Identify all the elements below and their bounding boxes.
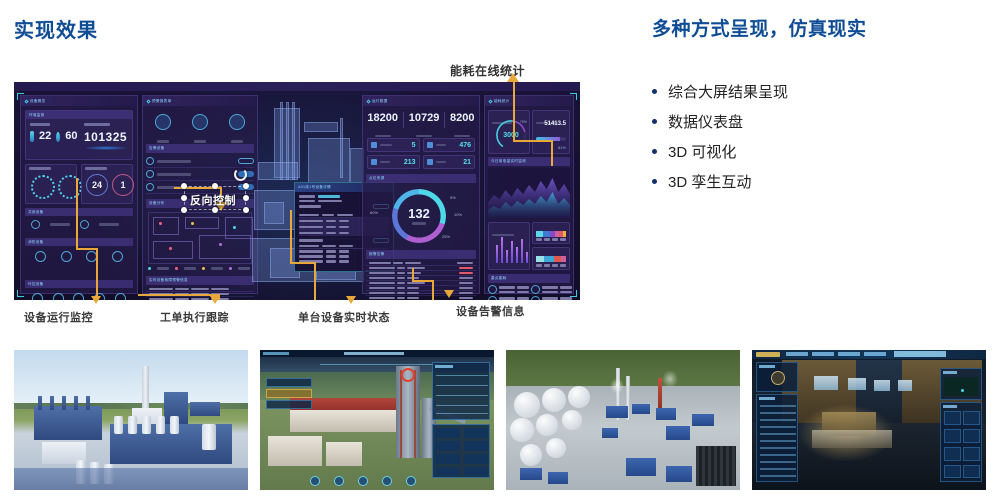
total-percent: 81% bbox=[558, 145, 566, 150]
list-item: 数据仪表盘 bbox=[652, 106, 972, 136]
menu-button[interactable] bbox=[266, 400, 312, 409]
panel-energy-statistics[interactable]: 能耗统计 3000 75% 51413.5 bbox=[484, 95, 574, 294]
card-title bbox=[29, 167, 51, 170]
count-value: 1 bbox=[120, 180, 125, 190]
kpi-label bbox=[454, 135, 470, 138]
list-item: 3D 孪生互动 bbox=[652, 166, 972, 196]
bullet-dot-icon bbox=[652, 89, 657, 94]
donut-center: 132 bbox=[392, 189, 446, 243]
section-header-fault: 实时设备故障预警信息 bbox=[146, 276, 254, 285]
meter-icon bbox=[488, 285, 497, 294]
device-icon[interactable] bbox=[35, 251, 46, 262]
section-title: 今日用电量实时监测 bbox=[491, 159, 526, 164]
alert-marker-icon[interactable] bbox=[401, 368, 415, 382]
tile-report[interactable] bbox=[192, 114, 208, 148]
records-panel[interactable] bbox=[756, 394, 798, 482]
thumbnail-interior-walkthrough[interactable] bbox=[752, 350, 986, 490]
office-building bbox=[268, 436, 322, 466]
meter-icon bbox=[531, 285, 540, 294]
overview-panel[interactable] bbox=[756, 362, 798, 392]
minimap[interactable] bbox=[944, 377, 978, 396]
building bbox=[190, 402, 220, 416]
resize-handle[interactable] bbox=[243, 195, 249, 201]
card-zone-energy-bars[interactable] bbox=[488, 222, 530, 270]
key-energy-grid[interactable] bbox=[488, 285, 570, 290]
callout-label-device-monitor: 设备运行监控 bbox=[24, 309, 93, 325]
mini-kpi-devices[interactable]: 476 bbox=[423, 138, 476, 152]
mini-kpi-value: 476 bbox=[459, 142, 471, 149]
panel-title: 设备概览 bbox=[30, 99, 46, 104]
callout-arrow-down-icon bbox=[346, 296, 356, 304]
callout-line bbox=[290, 262, 316, 264]
legend-label bbox=[211, 267, 223, 270]
card-rotation bbox=[25, 164, 77, 204]
slice-label-4: 60% bbox=[370, 210, 378, 215]
zone-block bbox=[153, 217, 179, 235]
callout-line bbox=[432, 280, 434, 300]
zone-block bbox=[199, 235, 251, 259]
card-item-water-ranking[interactable] bbox=[532, 247, 570, 270]
device-icon[interactable] bbox=[73, 293, 84, 300]
nav-icon[interactable] bbox=[382, 476, 392, 486]
diamond-icon bbox=[24, 99, 28, 103]
legend bbox=[536, 238, 566, 241]
total-value: 51413.5 bbox=[544, 121, 566, 127]
panel-header: 能耗统计 bbox=[485, 96, 573, 106]
device-icon[interactable] bbox=[112, 251, 123, 262]
group-title: 环控设备 bbox=[28, 282, 44, 287]
metric-temp-humidity: 22 60 bbox=[30, 123, 78, 142]
resize-handle[interactable] bbox=[243, 183, 249, 189]
device-icon bbox=[427, 142, 433, 148]
list-item[interactable] bbox=[488, 285, 529, 294]
feature-list: 综合大屏结果呈现 数据仪表盘 3D 可视化 3D 孪生互动 bbox=[652, 76, 972, 196]
dashboard-canvas: 设备概览 环境监测 22 60 bbox=[14, 82, 580, 300]
section-title: 报警告警 bbox=[369, 252, 385, 257]
group-header: 环控设备 bbox=[25, 280, 133, 288]
panel-title: 能耗统计 bbox=[494, 99, 510, 104]
metric-pressure: 101325 bbox=[84, 123, 128, 150]
section-title: 实时设备故障预警信息 bbox=[149, 278, 188, 283]
status-panel[interactable] bbox=[432, 362, 490, 420]
resize-handle[interactable] bbox=[212, 183, 218, 189]
nav-tab[interactable] bbox=[786, 352, 808, 356]
count-badge-1: 24 bbox=[86, 174, 108, 196]
order-icon bbox=[371, 142, 377, 148]
process-icon bbox=[427, 159, 433, 165]
resize-handle[interactable] bbox=[181, 207, 187, 213]
mini-kpi-grid: 5 476 213 21 bbox=[367, 138, 475, 169]
bullet-dot-icon bbox=[652, 179, 657, 184]
resize-handle[interactable] bbox=[181, 183, 187, 189]
card-energy-gauge[interactable]: 3000 75% bbox=[488, 110, 530, 154]
alarm-icon bbox=[146, 183, 154, 191]
nav-icon[interactable] bbox=[334, 476, 344, 486]
section-title: 告警设备 bbox=[149, 146, 165, 151]
list-item[interactable] bbox=[488, 296, 529, 300]
section-title: 点位来源 bbox=[369, 176, 385, 181]
panel-production-stats[interactable]: 运行数据 18200 10729 8200 bbox=[362, 95, 480, 294]
list-item[interactable] bbox=[531, 285, 572, 294]
group-items bbox=[25, 216, 133, 233]
kpi-label bbox=[416, 135, 432, 138]
list-item[interactable] bbox=[531, 296, 572, 300]
zone-block bbox=[153, 241, 193, 259]
legend-label bbox=[184, 267, 196, 270]
section-header-points: 点位来源 bbox=[366, 174, 476, 183]
group-env-devices[interactable]: 环控设备 bbox=[25, 280, 133, 289]
legend-dot-run bbox=[148, 267, 151, 270]
device-icon[interactable] bbox=[53, 293, 64, 300]
list-item-label: 综合大屏结果呈现 bbox=[668, 81, 788, 102]
device-layout-map[interactable] bbox=[148, 212, 252, 264]
mini-kpi-label bbox=[380, 161, 390, 164]
bullet-dot-icon bbox=[652, 149, 657, 154]
rotate-handle-icon[interactable] bbox=[234, 168, 247, 181]
callout-arrow-down-icon bbox=[444, 290, 454, 298]
walkway bbox=[812, 430, 892, 448]
card-item-energy-ranking[interactable] bbox=[532, 222, 570, 244]
card-title bbox=[85, 167, 107, 170]
callout-line bbox=[412, 280, 434, 282]
panel-header: 运行数据 bbox=[363, 96, 479, 106]
dashboard-topbar bbox=[14, 82, 580, 91]
group-title: 共用设备 bbox=[28, 210, 44, 215]
status-dot-run bbox=[233, 226, 236, 229]
humidity-icon bbox=[56, 132, 60, 142]
list-item-label: 3D 可视化 bbox=[668, 141, 736, 162]
area-chart-svg bbox=[488, 168, 570, 218]
legend bbox=[536, 264, 566, 267]
workorder-icon bbox=[371, 159, 377, 165]
callout-line bbox=[513, 140, 553, 142]
nav-tab[interactable] bbox=[838, 352, 860, 356]
callout-arrow-up-icon bbox=[507, 73, 519, 82]
device-label bbox=[99, 223, 119, 226]
mini-kpi-process[interactable]: 21 bbox=[423, 155, 476, 169]
donut-center-value: 132 bbox=[408, 207, 430, 220]
device-icon[interactable] bbox=[80, 220, 89, 229]
mini-kpi-value: 5 bbox=[412, 142, 416, 149]
kpi-value: 18200 bbox=[367, 112, 398, 124]
callout-label-device-alarm: 设备告警信息 bbox=[456, 303, 525, 319]
thumbnail-refinery-aerial[interactable] bbox=[506, 350, 740, 490]
popup-title: A01线1号设备详情 bbox=[298, 185, 331, 190]
pressure-glow bbox=[84, 146, 128, 150]
resize-handle[interactable] bbox=[181, 195, 187, 201]
diamond-icon bbox=[488, 99, 492, 103]
group-items bbox=[25, 288, 133, 300]
status-dot-offline bbox=[219, 243, 222, 246]
menu-button[interactable] bbox=[266, 378, 312, 387]
callout-line bbox=[76, 248, 98, 250]
stacked-bar bbox=[536, 231, 566, 237]
card-header: 环境监测 bbox=[26, 111, 132, 119]
section-header-alarm-table: 报警告警 bbox=[366, 250, 476, 259]
fault-table[interactable] bbox=[146, 287, 254, 290]
meter-icon bbox=[531, 296, 540, 300]
section-title: 重点能耗 bbox=[491, 276, 507, 281]
mini-kpi-label bbox=[380, 144, 392, 147]
gauge-center: 3000 bbox=[496, 120, 526, 150]
mini-kpi-label bbox=[436, 144, 446, 147]
gauge-percent: 75% bbox=[520, 120, 527, 124]
thumbnail-plant-exterior[interactable] bbox=[14, 350, 248, 490]
slice-label-1: 5% bbox=[450, 195, 456, 200]
blue-unit bbox=[626, 458, 656, 476]
metrics-grid-panel[interactable] bbox=[432, 424, 490, 478]
list-item: 3D 可视化 bbox=[652, 136, 972, 166]
camera-grid-panel[interactable] bbox=[940, 402, 982, 482]
group-header: 消防设备 bbox=[25, 238, 133, 246]
group-header: 共用设备 bbox=[25, 208, 133, 216]
stacked-bar bbox=[536, 256, 566, 262]
meter-icon bbox=[488, 296, 497, 300]
mini-kpi-workorders[interactable]: 213 bbox=[367, 155, 420, 169]
status-dot-alarm bbox=[159, 222, 162, 225]
callout-line bbox=[76, 178, 78, 250]
reverse-control-label: 反向控制 bbox=[190, 192, 236, 208]
diamond-icon bbox=[366, 99, 370, 103]
list-item[interactable] bbox=[146, 155, 254, 168]
alarm-text bbox=[157, 173, 191, 176]
callout-line bbox=[513, 82, 515, 142]
report-icon bbox=[192, 114, 208, 130]
legend-dot-offline bbox=[229, 267, 232, 270]
callout-line bbox=[138, 294, 220, 296]
section-header-key-energy: 重点能耗 bbox=[488, 274, 570, 283]
nav-tab[interactable] bbox=[812, 352, 834, 356]
list-item-label: 数据仪表盘 bbox=[668, 111, 743, 132]
report-icon bbox=[229, 114, 245, 130]
legend-dot-stop bbox=[175, 267, 178, 270]
tile-label bbox=[231, 140, 243, 143]
mini-kpi-label bbox=[436, 161, 446, 164]
mini-kpi-orders[interactable]: 5 bbox=[367, 138, 420, 152]
nav-icon[interactable] bbox=[406, 476, 416, 486]
device-icon[interactable] bbox=[32, 293, 43, 300]
panel-device-overview[interactable]: 设备概览 环境监测 22 60 bbox=[20, 95, 138, 294]
group-title: 消防设备 bbox=[28, 240, 44, 245]
tile-report[interactable] bbox=[229, 114, 245, 148]
count-badge-2: 1 bbox=[112, 174, 134, 196]
diamond-icon bbox=[146, 99, 150, 103]
menu-button-active[interactable] bbox=[266, 389, 312, 398]
topbar-center-title bbox=[344, 352, 404, 355]
donut-center-label bbox=[412, 222, 426, 225]
dark-unit bbox=[696, 446, 736, 486]
nav-icon[interactable] bbox=[358, 476, 368, 486]
resize-handle[interactable] bbox=[212, 207, 218, 213]
status-dot-alarm bbox=[169, 247, 172, 250]
slice-label-3: 25% bbox=[442, 234, 450, 239]
list-item: 综合大屏结果呈现 bbox=[652, 76, 972, 106]
device-icon[interactable] bbox=[115, 293, 126, 300]
kpi-label bbox=[375, 135, 391, 138]
device-icon[interactable] bbox=[31, 220, 40, 229]
status-dot-warn bbox=[191, 222, 194, 225]
bar-chart bbox=[494, 235, 526, 263]
kpi-value: 8200 bbox=[450, 112, 474, 124]
minimap-marker-icon bbox=[961, 389, 964, 392]
tile-label bbox=[157, 140, 169, 143]
metric-label bbox=[84, 123, 110, 126]
callout-arrow-down-icon bbox=[210, 296, 220, 304]
thumbnail-digital-twin[interactable] bbox=[260, 350, 494, 490]
metric-value-temp: 22 bbox=[39, 131, 51, 142]
device-label bbox=[50, 223, 70, 226]
map-legend bbox=[148, 267, 250, 270]
metric-value-humidity: 60 bbox=[65, 131, 77, 142]
resize-handle[interactable] bbox=[243, 207, 249, 213]
mini-kpi-value: 213 bbox=[404, 159, 416, 166]
group-fire-devices[interactable]: 消防设备 bbox=[25, 238, 133, 276]
table-row[interactable] bbox=[146, 297, 254, 300]
gauge-ring-1 bbox=[31, 175, 55, 199]
gauge-ring-2 bbox=[58, 175, 82, 199]
tile-label bbox=[194, 140, 206, 143]
callout-arrow-down-icon bbox=[91, 296, 101, 304]
app-title bbox=[894, 351, 946, 357]
alarm-text bbox=[157, 160, 191, 163]
slide-root: 实现效果 多种方式呈现，仿真现实 综合大屏结果呈现 数据仪表盘 3D 可视化 3… bbox=[0, 0, 1000, 498]
gauge-value: 3000 bbox=[503, 132, 519, 139]
mini-kpi-value: 21 bbox=[463, 159, 471, 166]
card-counts: 24 1 bbox=[81, 164, 133, 204]
slice-label-2: 10% bbox=[454, 212, 462, 217]
steam-plume bbox=[610, 378, 624, 394]
logo bbox=[756, 352, 780, 357]
page-title-left: 实现效果 bbox=[14, 14, 98, 43]
minimap-panel[interactable] bbox=[940, 368, 982, 400]
callout-line bbox=[290, 210, 292, 264]
callout-label-device-status: 单台设备实时状态 bbox=[298, 309, 390, 325]
panel-title: 运行数据 bbox=[372, 99, 388, 104]
callout-line bbox=[314, 262, 316, 300]
legend-label bbox=[238, 267, 250, 270]
card-env-monitor[interactable]: 环境监测 22 60 101325 bbox=[25, 110, 133, 160]
donut-chart[interactable]: 132 5% 10% 25% 60% bbox=[366, 186, 476, 248]
legend-label bbox=[157, 267, 169, 270]
nav-icon[interactable] bbox=[310, 476, 320, 486]
alarm-icon bbox=[146, 170, 154, 178]
card-rotation-and-counts[interactable]: 24 1 bbox=[25, 164, 133, 204]
structure-frame bbox=[34, 406, 102, 440]
tile-report[interactable] bbox=[155, 114, 171, 148]
steam-plume bbox=[662, 370, 678, 388]
card-title: 环境监测 bbox=[29, 113, 45, 118]
panel-header: 预警报表单 bbox=[143, 96, 257, 106]
device-icon[interactable] bbox=[61, 251, 72, 262]
metric-value-pressure: 101325 bbox=[84, 130, 128, 144]
page-title-right: 多种方式呈现，仿真现实 bbox=[652, 14, 867, 41]
count-value: 24 bbox=[92, 180, 102, 190]
callout-line bbox=[551, 140, 553, 166]
divider bbox=[444, 112, 445, 128]
topbar-title bbox=[263, 352, 289, 355]
report-icon bbox=[155, 114, 171, 130]
thumbnail-strip bbox=[14, 350, 986, 490]
section-title: 设备分布 bbox=[149, 201, 165, 206]
thermometer-icon bbox=[30, 131, 34, 142]
group-common-devices[interactable]: 共用设备 bbox=[25, 208, 133, 234]
panel-title: 预警报表单 bbox=[152, 99, 171, 104]
table-row[interactable] bbox=[366, 296, 476, 300]
alarm-table[interactable] bbox=[366, 261, 476, 290]
list-item-label: 3D 孪生互动 bbox=[668, 171, 751, 192]
nav-tab[interactable] bbox=[864, 352, 886, 356]
kpi-value: 10729 bbox=[409, 112, 440, 124]
section-header-power-curve: 今日用电量实时监测 bbox=[488, 157, 570, 166]
legend-dot-alarm bbox=[202, 267, 205, 270]
divider bbox=[403, 112, 404, 128]
metric-label bbox=[30, 123, 50, 126]
badge-icon bbox=[771, 371, 785, 385]
section-header-alarm: 告警设备 bbox=[146, 144, 254, 153]
bullet-dot-icon bbox=[652, 119, 657, 124]
panel-header: 设备概览 bbox=[21, 96, 137, 106]
dashboard-screenshot: 设备概览 环境监测 22 60 bbox=[14, 82, 580, 300]
alarm-icon bbox=[146, 157, 154, 165]
bottom-nav[interactable] bbox=[310, 476, 416, 486]
callout-label-workorder: 工单执行跟踪 bbox=[160, 309, 229, 325]
area-chart-power[interactable] bbox=[488, 168, 570, 218]
callout-line bbox=[96, 248, 98, 300]
